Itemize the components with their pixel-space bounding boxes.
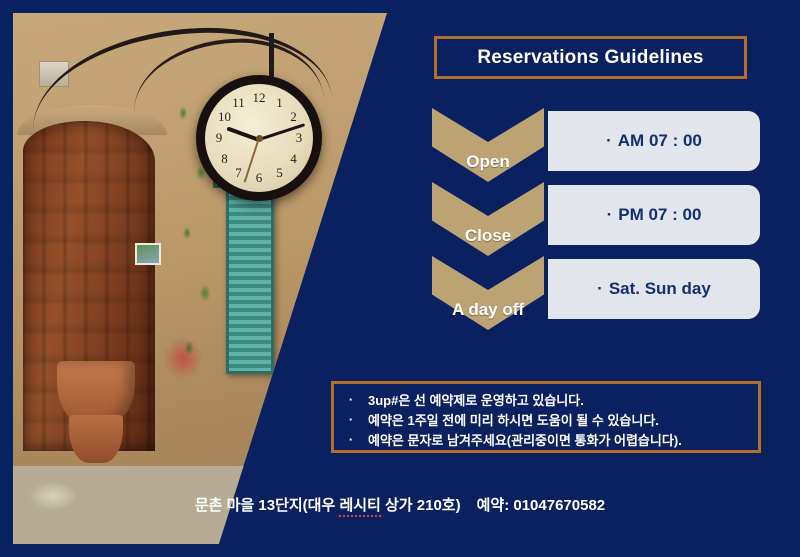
schedule-value-dayoff-text: Sat. Sun day <box>609 279 711 298</box>
clock-numeral: 9 <box>216 130 223 146</box>
schedule-value-box-open: ·AM 07 : 00 <box>548 111 760 171</box>
clock-face: 12 1 2 3 4 5 6 7 8 9 10 11 <box>205 84 313 192</box>
clock-numeral: 10 <box>218 109 231 125</box>
note-text: 3up#은 선 예약제로 운영하고 있습니다. <box>368 390 584 409</box>
schedule-value-box-dayoff: ·Sat. Sun day <box>548 259 760 319</box>
address-part-2: 상가 210호) <box>381 497 461 514</box>
clock-numeral: 11 <box>232 95 245 111</box>
clock-numeral: 8 <box>221 151 228 167</box>
clock-numeral: 4 <box>290 151 297 167</box>
note-text: 예약은 문자로 남겨주세요(관리중이면 통화가 어렵습니다). <box>368 430 682 449</box>
clock-center-pin <box>256 135 263 142</box>
reservation-phone: 01047670582 <box>513 497 605 514</box>
page-title-box: Reservations Guidelines <box>434 36 747 79</box>
address-part-1: 문촌 마을 13단지(대우 <box>195 497 340 514</box>
wall-picture-frame <box>135 243 161 265</box>
venue-photo: 12 1 2 3 4 5 6 7 8 9 10 11 <box>13 13 387 544</box>
schedule-row-close: Close ·PM 07 : 00 <box>432 182 762 256</box>
street-clock-icon: 12 1 2 3 4 5 6 7 8 9 10 11 <box>196 75 322 201</box>
page-title: Reservations Guidelines <box>477 47 703 69</box>
clock-numeral: 3 <box>296 130 303 146</box>
bullet-icon: · <box>334 432 368 447</box>
clock-numeral: 12 <box>253 90 266 106</box>
bullet-icon: · <box>607 205 613 225</box>
flower-pot-small <box>69 415 123 463</box>
schedule-value-box-close: ·PM 07 : 00 <box>548 185 760 245</box>
note-item: · 예약은 1주일 전에 미리 하시면 도움이 될 수 있습니다. <box>334 409 758 429</box>
schedule-list: Open ·AM 07 : 00 Close ·PM 07 : 00 A day… <box>432 108 762 330</box>
schedule-row-dayoff: A day off ·Sat. Sun day <box>432 256 762 330</box>
bullet-icon: · <box>334 412 368 427</box>
note-item: · 예약은 문자로 남겨주세요(관리중이면 통화가 어렵습니다). <box>334 429 758 449</box>
flower-pot-large <box>57 361 135 423</box>
schedule-value-close-text: PM 07 : 00 <box>618 205 701 224</box>
clock-numeral: 1 <box>276 95 283 111</box>
bullet-icon: · <box>597 279 603 299</box>
clock-numeral: 7 <box>235 165 242 181</box>
schedule-value-close: ·PM 07 : 00 <box>607 205 702 225</box>
schedule-value-open-text: AM 07 : 00 <box>618 131 702 150</box>
schedule-label-open: Open <box>432 108 544 182</box>
green-shutter-window <box>226 189 274 374</box>
clock-numeral: 2 <box>290 109 297 125</box>
schedule-value-open: ·AM 07 : 00 <box>606 131 702 151</box>
schedule-value-dayoff: ·Sat. Sun day <box>597 279 711 299</box>
note-text: 예약은 1주일 전에 미리 하시면 도움이 될 수 있습니다. <box>368 410 659 429</box>
clock-hour-hand <box>226 126 259 141</box>
note-item: · 3up#은 선 예약제로 운영하고 있습니다. <box>334 389 758 409</box>
reservation-label: 예약: <box>477 497 514 514</box>
address-and-phone: 문촌 마을 13단지(대우 레시티 상가 210호)예약: 0104767058… <box>0 494 800 515</box>
clock-numeral: 6 <box>256 170 263 186</box>
bullet-icon: · <box>606 131 612 151</box>
clock-numeral: 5 <box>276 165 283 181</box>
notes-box: · 3up#은 선 예약제로 운영하고 있습니다. · 예약은 1주일 전에 미… <box>331 381 761 453</box>
bullet-icon: · <box>334 392 368 407</box>
schedule-label-dayoff: A day off <box>432 256 544 330</box>
address-misspelled-word: 레시티 <box>339 497 380 517</box>
schedule-row-open: Open ·AM 07 : 00 <box>432 108 762 182</box>
schedule-label-close: Close <box>432 182 544 256</box>
